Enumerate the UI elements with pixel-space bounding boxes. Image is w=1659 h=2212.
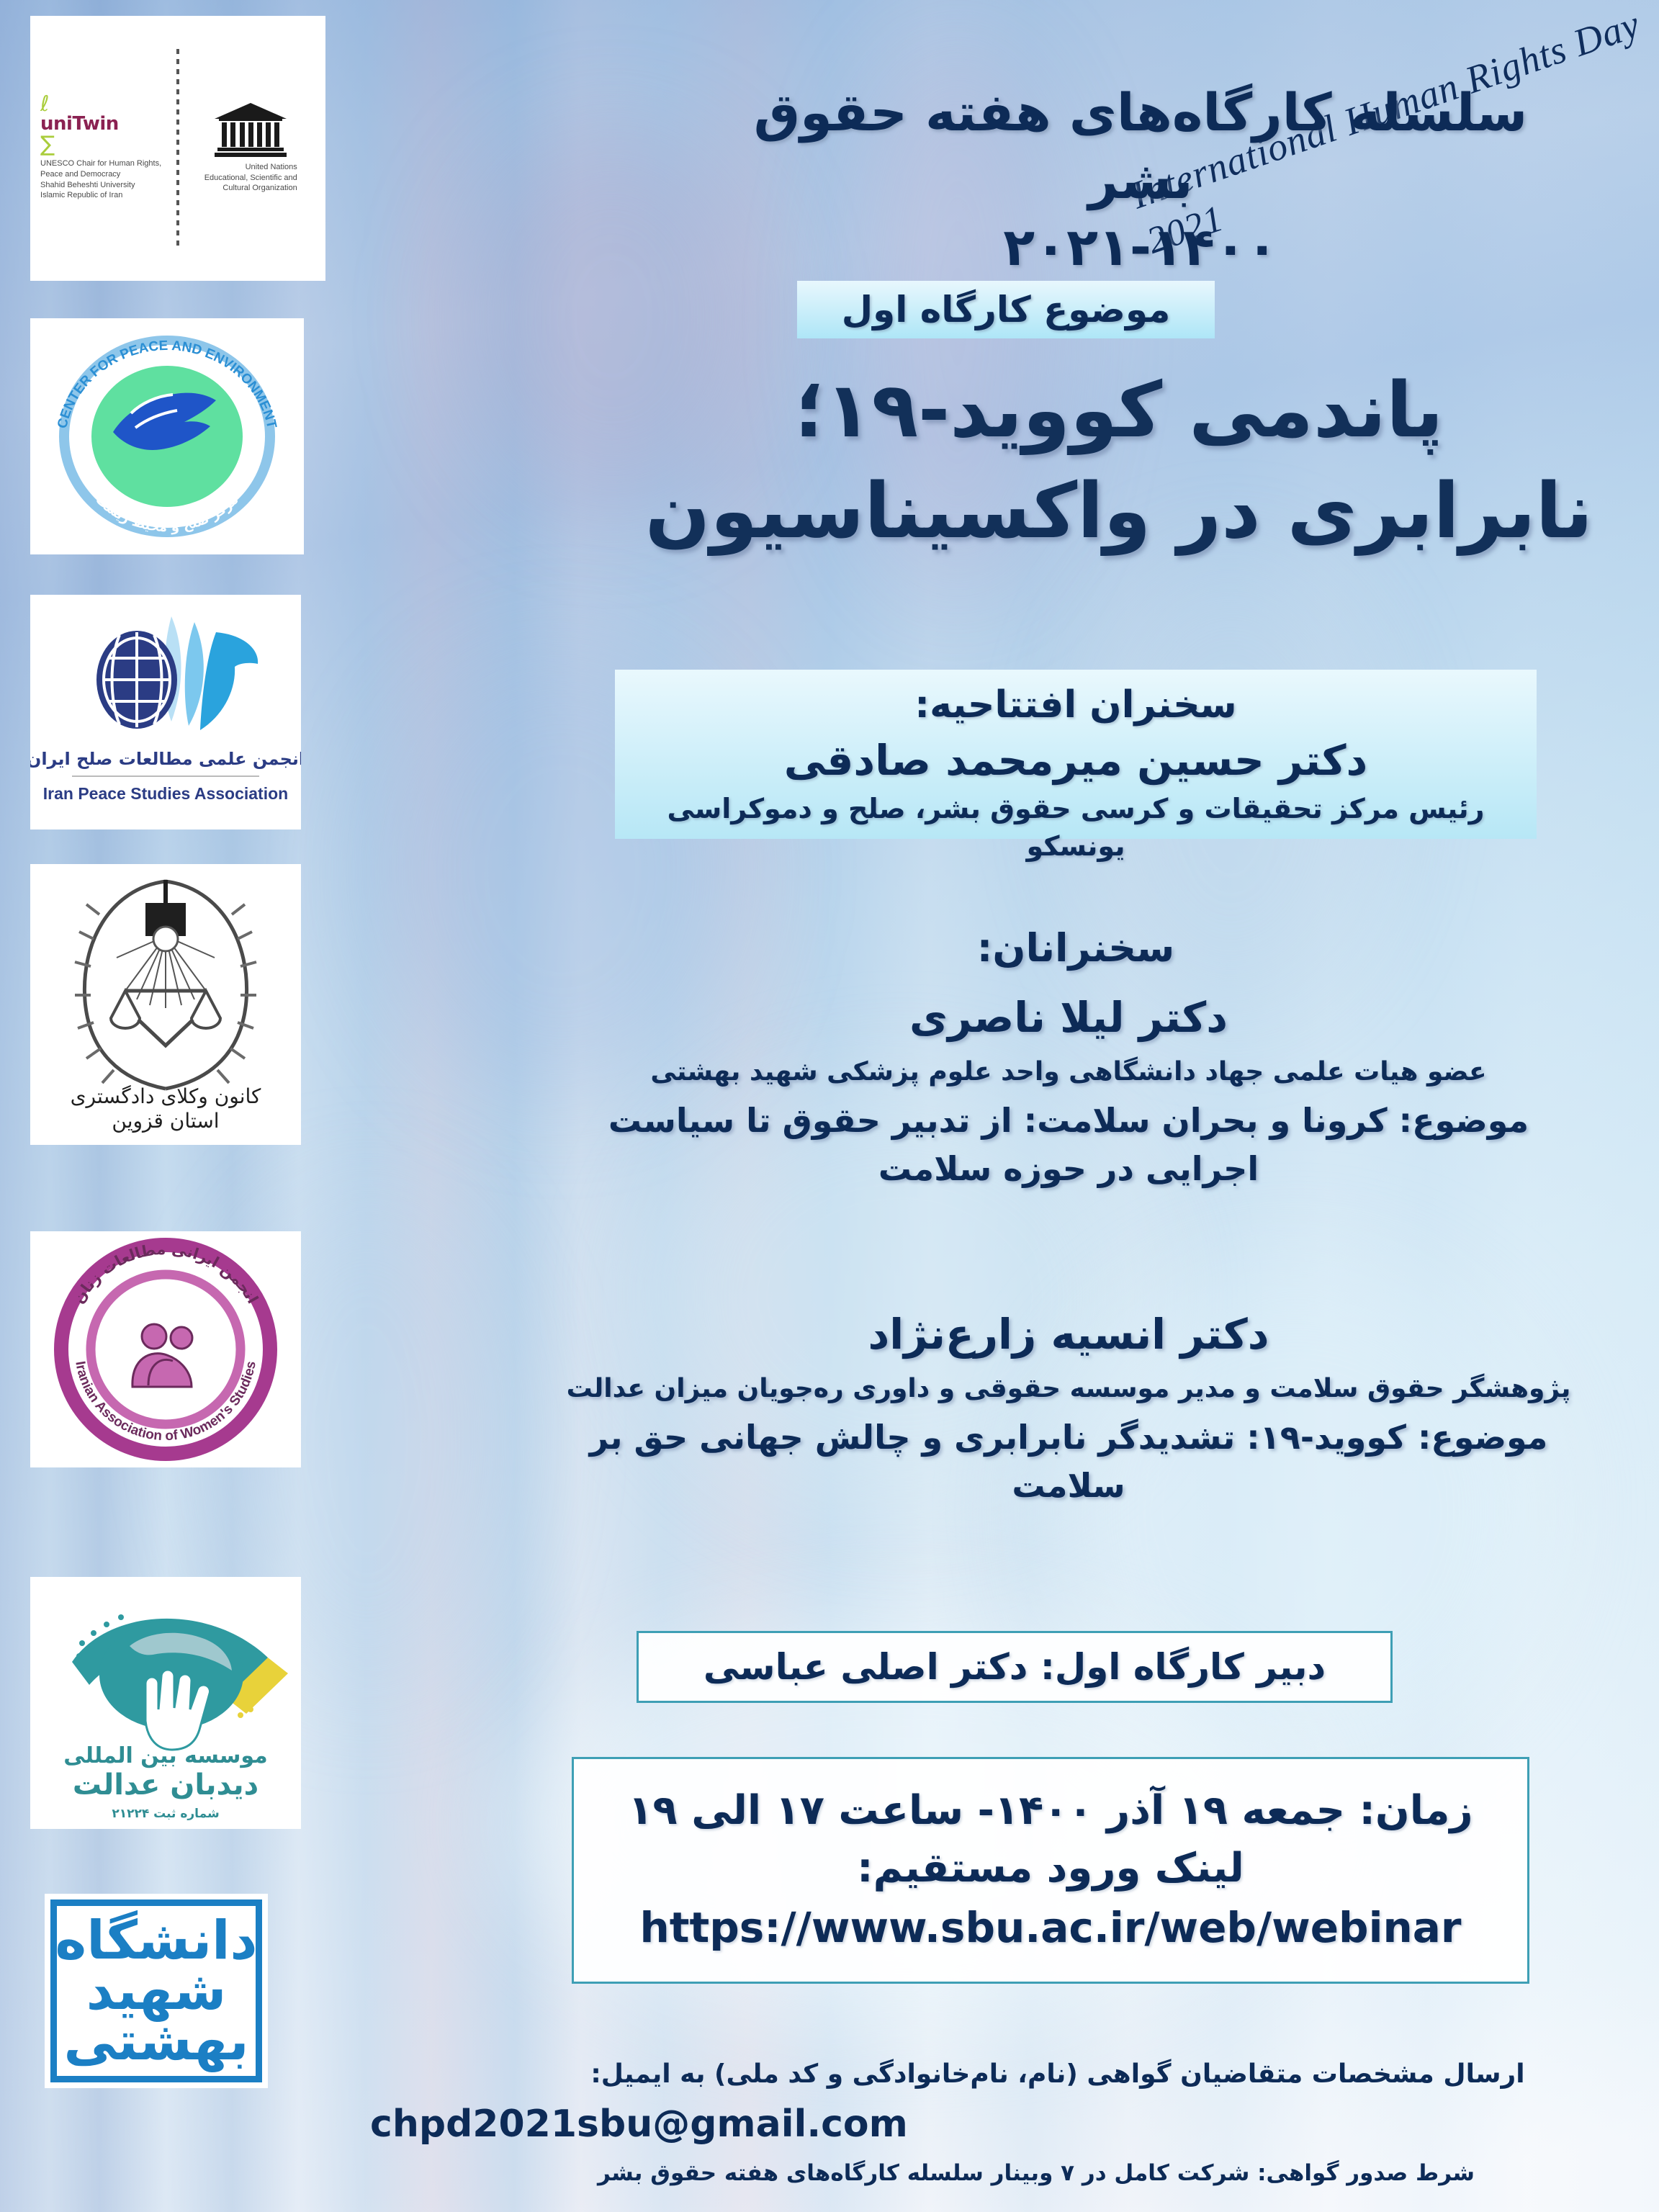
workshop-subject-chip: موضوع کارگاه اول	[797, 281, 1215, 338]
logo-qazvin-bar-association: کانون وکلای دادگستری استان قزوین	[30, 864, 301, 1145]
datetime-and-link-box: زمان: جمعه ۱۹ آذر ۱۴۰۰- ساعت ۱۷ الی ۱۹ ل…	[572, 1757, 1529, 1984]
series-title: سلسله کارگاه‌های هفته حقوق بشر ۲۰۲۱-۱۴۰۰	[709, 79, 1573, 282]
page-title: پاندمی کووید-۱۹؛ نابرابری در واکسیناسیون	[622, 360, 1616, 562]
dove-icon	[113, 393, 216, 450]
webinar-link[interactable]: https://www.sbu.ac.ir/web/webinar	[640, 1899, 1462, 1957]
womens-studies-seal-svg: انجمن ایرانی مطالعات زنان Iranian Associ…	[30, 1231, 301, 1467]
logo-center-peace-environment: CENTER FOR PEACE AND ENVIRONMENT مرکز صل…	[30, 318, 304, 554]
logo-iran-peace-studies-association: انجمن علمی مطالعات صلح ایران Iran Peace …	[30, 595, 301, 829]
series-title-line1: سلسله کارگاه‌های هفته حقوق بشر	[709, 79, 1573, 214]
svg-text:Iran Peace Studies Association: Iran Peace Studies Association	[43, 784, 288, 803]
sbu-wordmark: دانشگاه شهید بهشتی	[53, 1915, 260, 2067]
event-time: زمان: جمعه ۱۹ آذر ۱۴۰۰- ساعت ۱۷ الی ۱۹	[628, 1784, 1473, 1838]
speaker-name: دکتر لیلا ناصری	[550, 986, 1587, 1049]
certificate-condition-note: شرط صدور گواهی: شرکت کامل در ۷ وبینار سل…	[543, 2160, 1529, 2186]
speaker-affiliation: پژوهشگر حقوق سلامت و مدیر موسسه حقوقی و …	[550, 1370, 1587, 1408]
unesco-chair-caption: UNESCO Chair for Human Rights, Peace and…	[40, 158, 166, 201]
poster-main-content: International Human Rights Day 2021 سلسل…	[338, 0, 1659, 2212]
series-title-line2: ۲۰۲۱-۱۴۰۰	[709, 214, 1573, 282]
main-title-line1: پاندمی کووید-۱۹؛	[622, 360, 1616, 461]
two-figures-icon	[132, 1324, 192, 1387]
peace-env-seal-svg: CENTER FOR PEACE AND ENVIRONMENT مرکز صل…	[30, 318, 304, 554]
opening-speaker-label: سخنران افتتاحیه:	[629, 680, 1522, 730]
speaker-name: دکتر انسیه زارع‌نژاد	[550, 1303, 1587, 1366]
opening-speaker-role: رئیس مرکز تحقیقات و کرسی حقوق بشر، صلح و…	[629, 791, 1522, 865]
sponsor-logo-rail: United Nations Educational, Scientific a…	[0, 0, 338, 2212]
speaker-topic: موضوع: کرونا و بحران سلامت: از تدبیر حقو…	[550, 1097, 1587, 1192]
svg-text:استان قزوین: استان قزوین	[112, 1109, 219, 1133]
logo-iranian-association-womens-studies: انجمن ایرانی مطالعات زنان Iranian Associ…	[30, 1231, 301, 1467]
unesco-left-caption: United Nations Educational, Scientific a…	[204, 162, 297, 194]
speaker-affiliation: عضو هیات علمی جهاد دانشگاهی واحد علوم پز…	[550, 1053, 1587, 1091]
ips-seal-svg: انجمن علمی مطالعات صلح ایران Iran Peace …	[30, 595, 301, 829]
svg-text:مرکز صلح و محیط زیست: مرکز صلح و محیط زیست	[93, 493, 242, 535]
qazvin-bar-seal-svg: کانون وکلای دادگستری استان قزوین	[30, 864, 301, 1145]
speaker-entry: دکتر لیلا ناصری عضو هیات علمی جهاد دانشگ…	[550, 986, 1587, 1193]
main-title-line2: نابرابری در واکسیناسیون	[622, 461, 1616, 562]
logo-justice-watchdog-institute: موسسه بین المللی دیدبان عدالت شماره ثبت …	[30, 1577, 301, 1829]
direct-link-label: لینک ورود مستقیم:	[857, 1841, 1244, 1896]
speakers-heading: سخنرانان:	[615, 925, 1537, 971]
justice-watchdog-eye-svg: موسسه بین المللی دیدبان عدالت شماره ثبت …	[30, 1577, 301, 1829]
logo-shahid-beheshti-university: دانشگاه شهید بهشتی	[45, 1894, 268, 2088]
svg-text:شماره ثبت ۲۱۲۲۴: شماره ثبت ۲۱۲۲۴	[112, 1807, 219, 1821]
opening-speaker-name: دکتر حسین میرمحمد صادقی	[629, 730, 1522, 791]
speaker-entry: دکتر انسیه زارع‌نژاد پژوهشگر حقوق سلامت …	[550, 1303, 1587, 1510]
poster-canvas: United Nations Educational, Scientific a…	[0, 0, 1659, 2212]
speaker-topic: موضوع: کووید-۱۹: تشدیدگر نابرابری و چالش…	[550, 1413, 1587, 1509]
unitwin-wordmark: ℓ uniTwin ∑	[40, 96, 166, 154]
svg-text:دیدبان عدالت: دیدبان عدالت	[73, 1768, 258, 1802]
certificate-request-note: ارسال مشخصات متقاضیان گواهی (نام، نام‌خا…	[543, 2059, 1573, 2089]
svg-text:موسسه بین المللی: موسسه بین المللی	[63, 1743, 268, 1768]
logo-unesco-unitwin: United Nations Educational, Scientific a…	[30, 16, 325, 281]
svg-text:کانون وکلای دادگستری: کانون وکلای دادگستری	[71, 1084, 261, 1108]
workshop-secretary-box: دبیر کارگاه اول: دکتر اصلی عباسی	[637, 1631, 1393, 1703]
svg-text:انجمن علمی مطالعات صلح ایران: انجمن علمی مطالعات صلح ایران	[30, 749, 301, 769]
contact-email[interactable]: chpd2021sbu@gmail.com	[370, 2103, 773, 2146]
opening-speaker-panel: سخنران افتتاحیه: دکتر حسین میرمحمد صادقی…	[615, 670, 1537, 839]
unesco-temple-icon	[215, 103, 287, 158]
unesco-dotted-divider	[170, 27, 186, 269]
